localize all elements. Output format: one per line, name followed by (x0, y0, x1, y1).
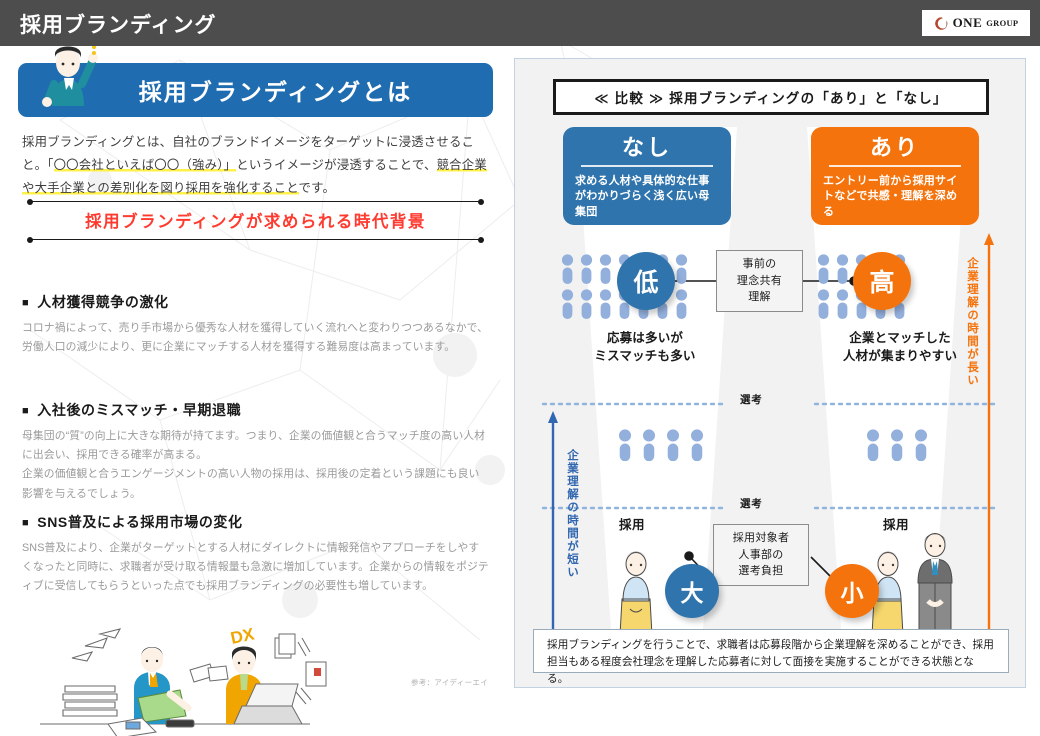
page-title: 採用ブランディング (20, 9, 217, 39)
person-icon (618, 429, 632, 461)
card-without-description: 求める人材や具体的な仕事がわかりづらく浅く広い母集団 (575, 174, 719, 222)
svg-text:DX: DX (229, 624, 257, 648)
lead-highlight-1: 〇〇会社といえば〇〇（強み）」 (54, 158, 237, 172)
era-background-heading-text: 採用ブランディングが求められる時代背景 (28, 202, 483, 239)
person-icon (817, 289, 830, 319)
person-icon (890, 429, 904, 461)
section-block: 入社後のミスマッチ・早期退職 母集団の“質”の向上に大きな期待が持てます。つまり… (22, 400, 490, 504)
person-icon (599, 289, 612, 319)
badge-understanding-low: 低 (617, 252, 675, 310)
card-rule (829, 165, 961, 167)
person-icon (836, 289, 849, 319)
mid-people-with (866, 429, 928, 461)
time-arrow-with (984, 233, 994, 645)
person-icon (580, 289, 593, 319)
hero-title: 採用ブランディングとは (99, 73, 412, 107)
person-icon (675, 254, 688, 284)
badge-burden-small: 小 (825, 564, 879, 618)
person-icon (836, 254, 849, 284)
logo-name: ONE (953, 15, 983, 31)
logo-suffix: GROUP (986, 18, 1018, 28)
section-body: 母集団の“質”の向上に大きな期待が持てます。つまり、企業の価値観と合うマッチ度の… (22, 427, 490, 504)
vertical-label-with: 企業理解の時間が長い (964, 257, 980, 387)
card-without-branding: なし 求める人材や具体的な仕事がわかりづらく浅く広い母集団 (563, 127, 731, 225)
comparison-panel: ≪ 比較 ≫ 採用ブランディングの「あり」と「なし」 (514, 58, 1026, 688)
swirl-icon (934, 16, 949, 31)
selection-label-first: 選考 (740, 392, 763, 407)
person-icon (817, 254, 830, 284)
caption-without-text: 応募は多いがミスマッチも多い (594, 331, 695, 363)
hire-label-with: 採用 (883, 514, 909, 533)
person-icon (675, 289, 688, 319)
worker-male (134, 647, 188, 724)
person-icon (561, 254, 574, 284)
people-column (580, 254, 593, 319)
summary-box: 採用ブランディングを行うことで、求職者は応募段階から企業理解を深めることができ、… (533, 629, 1009, 673)
time-arrow-without (548, 411, 558, 645)
office-workers-dx-illustration: DX (30, 616, 350, 736)
hired-person-without-icon (610, 537, 662, 637)
era-background-heading: 採用ブランディングが求められる時代背景 (28, 201, 483, 240)
person-icon (690, 429, 704, 461)
section-block: 人材獲得競争の激化 コロナ禍によって、売り手市場から優秀な人材を獲得していく流れ… (22, 292, 490, 357)
hire-label-without: 採用 (619, 514, 645, 533)
people-column (817, 254, 830, 319)
card-with-branding: あり エントリー前から採用サイトなどで共感・理解を深める (811, 127, 979, 225)
person-icon (666, 429, 680, 461)
card-with-heading: あり (823, 134, 967, 162)
caption-without: 応募は多いがミスマッチも多い (555, 329, 735, 365)
person-icon (599, 254, 612, 284)
card-without-heading: なし (575, 134, 719, 162)
people-column (561, 254, 574, 319)
caption-with-text: 企業とマッチした人材が集まりやすい (843, 331, 957, 363)
section-body: コロナ禍によって、売り手市場から優秀な人材を獲得していく流れへと変わりつつあるな… (22, 319, 490, 357)
section-body: SNS普及により、企業がターゲットとする人材にダイレクトに情報発信やアプローチを… (22, 539, 490, 597)
note-selection-burden-text: 採用対象者人事部の選考負担 (733, 530, 790, 580)
card-rule (581, 165, 713, 167)
person-icon (561, 289, 574, 319)
note-prior-philosophy-text: 事前の理念共有理解 (737, 256, 782, 306)
people-column (836, 254, 849, 319)
note-prior-philosophy-sharing: 事前の理念共有理解 (716, 250, 803, 312)
person-icon (866, 429, 880, 461)
lead-paragraph: 採用ブランディングとは、自社のブランドイメージをターゲットに浸透させること。「〇… (22, 131, 490, 200)
header-bar: 採用ブランディング ONE GROUP (0, 0, 1040, 46)
card-with-description: エントリー前から採用サイトなどで共感・理解を深める (823, 174, 967, 222)
lead-part-3: です。 (299, 181, 336, 195)
hired-person-with-male-icon (907, 525, 963, 637)
section-block: SNS普及による採用市場の変化 SNS普及により、企業がターゲットとする人材にダ… (22, 512, 490, 597)
section-heading: SNS普及による採用市場の変化 (22, 512, 490, 532)
badge-understanding-high: 高 (853, 252, 911, 310)
mid-people-without (618, 429, 704, 461)
people-column (675, 254, 688, 319)
vertical-label-without: 企業理解の時間が短い (564, 449, 580, 579)
selection-label-second: 選考 (740, 496, 763, 511)
brand-logo: ONE GROUP (922, 10, 1030, 36)
note-selection-burden: 採用対象者人事部の選考負担 (713, 524, 809, 586)
rule-line-bottom (28, 239, 483, 240)
rule-line-top (28, 201, 483, 202)
person-icon (914, 429, 928, 461)
section-heading: 人材獲得競争の激化 (22, 292, 490, 312)
people-column (599, 254, 612, 319)
person-icon (580, 254, 593, 284)
left-content-column: 採用ブランディングとは 採用ブランディングとは、自社のブランドイメージをターゲッ… (0, 46, 510, 700)
person-icon (642, 429, 656, 461)
badge-burden-large: 大 (665, 564, 719, 618)
lead-part-2: というイメージが浸透することで、 (236, 158, 436, 172)
source-attribution: 参考：アイディーエイ (411, 677, 488, 688)
section-heading: 入社後のミスマッチ・早期退職 (22, 400, 490, 420)
